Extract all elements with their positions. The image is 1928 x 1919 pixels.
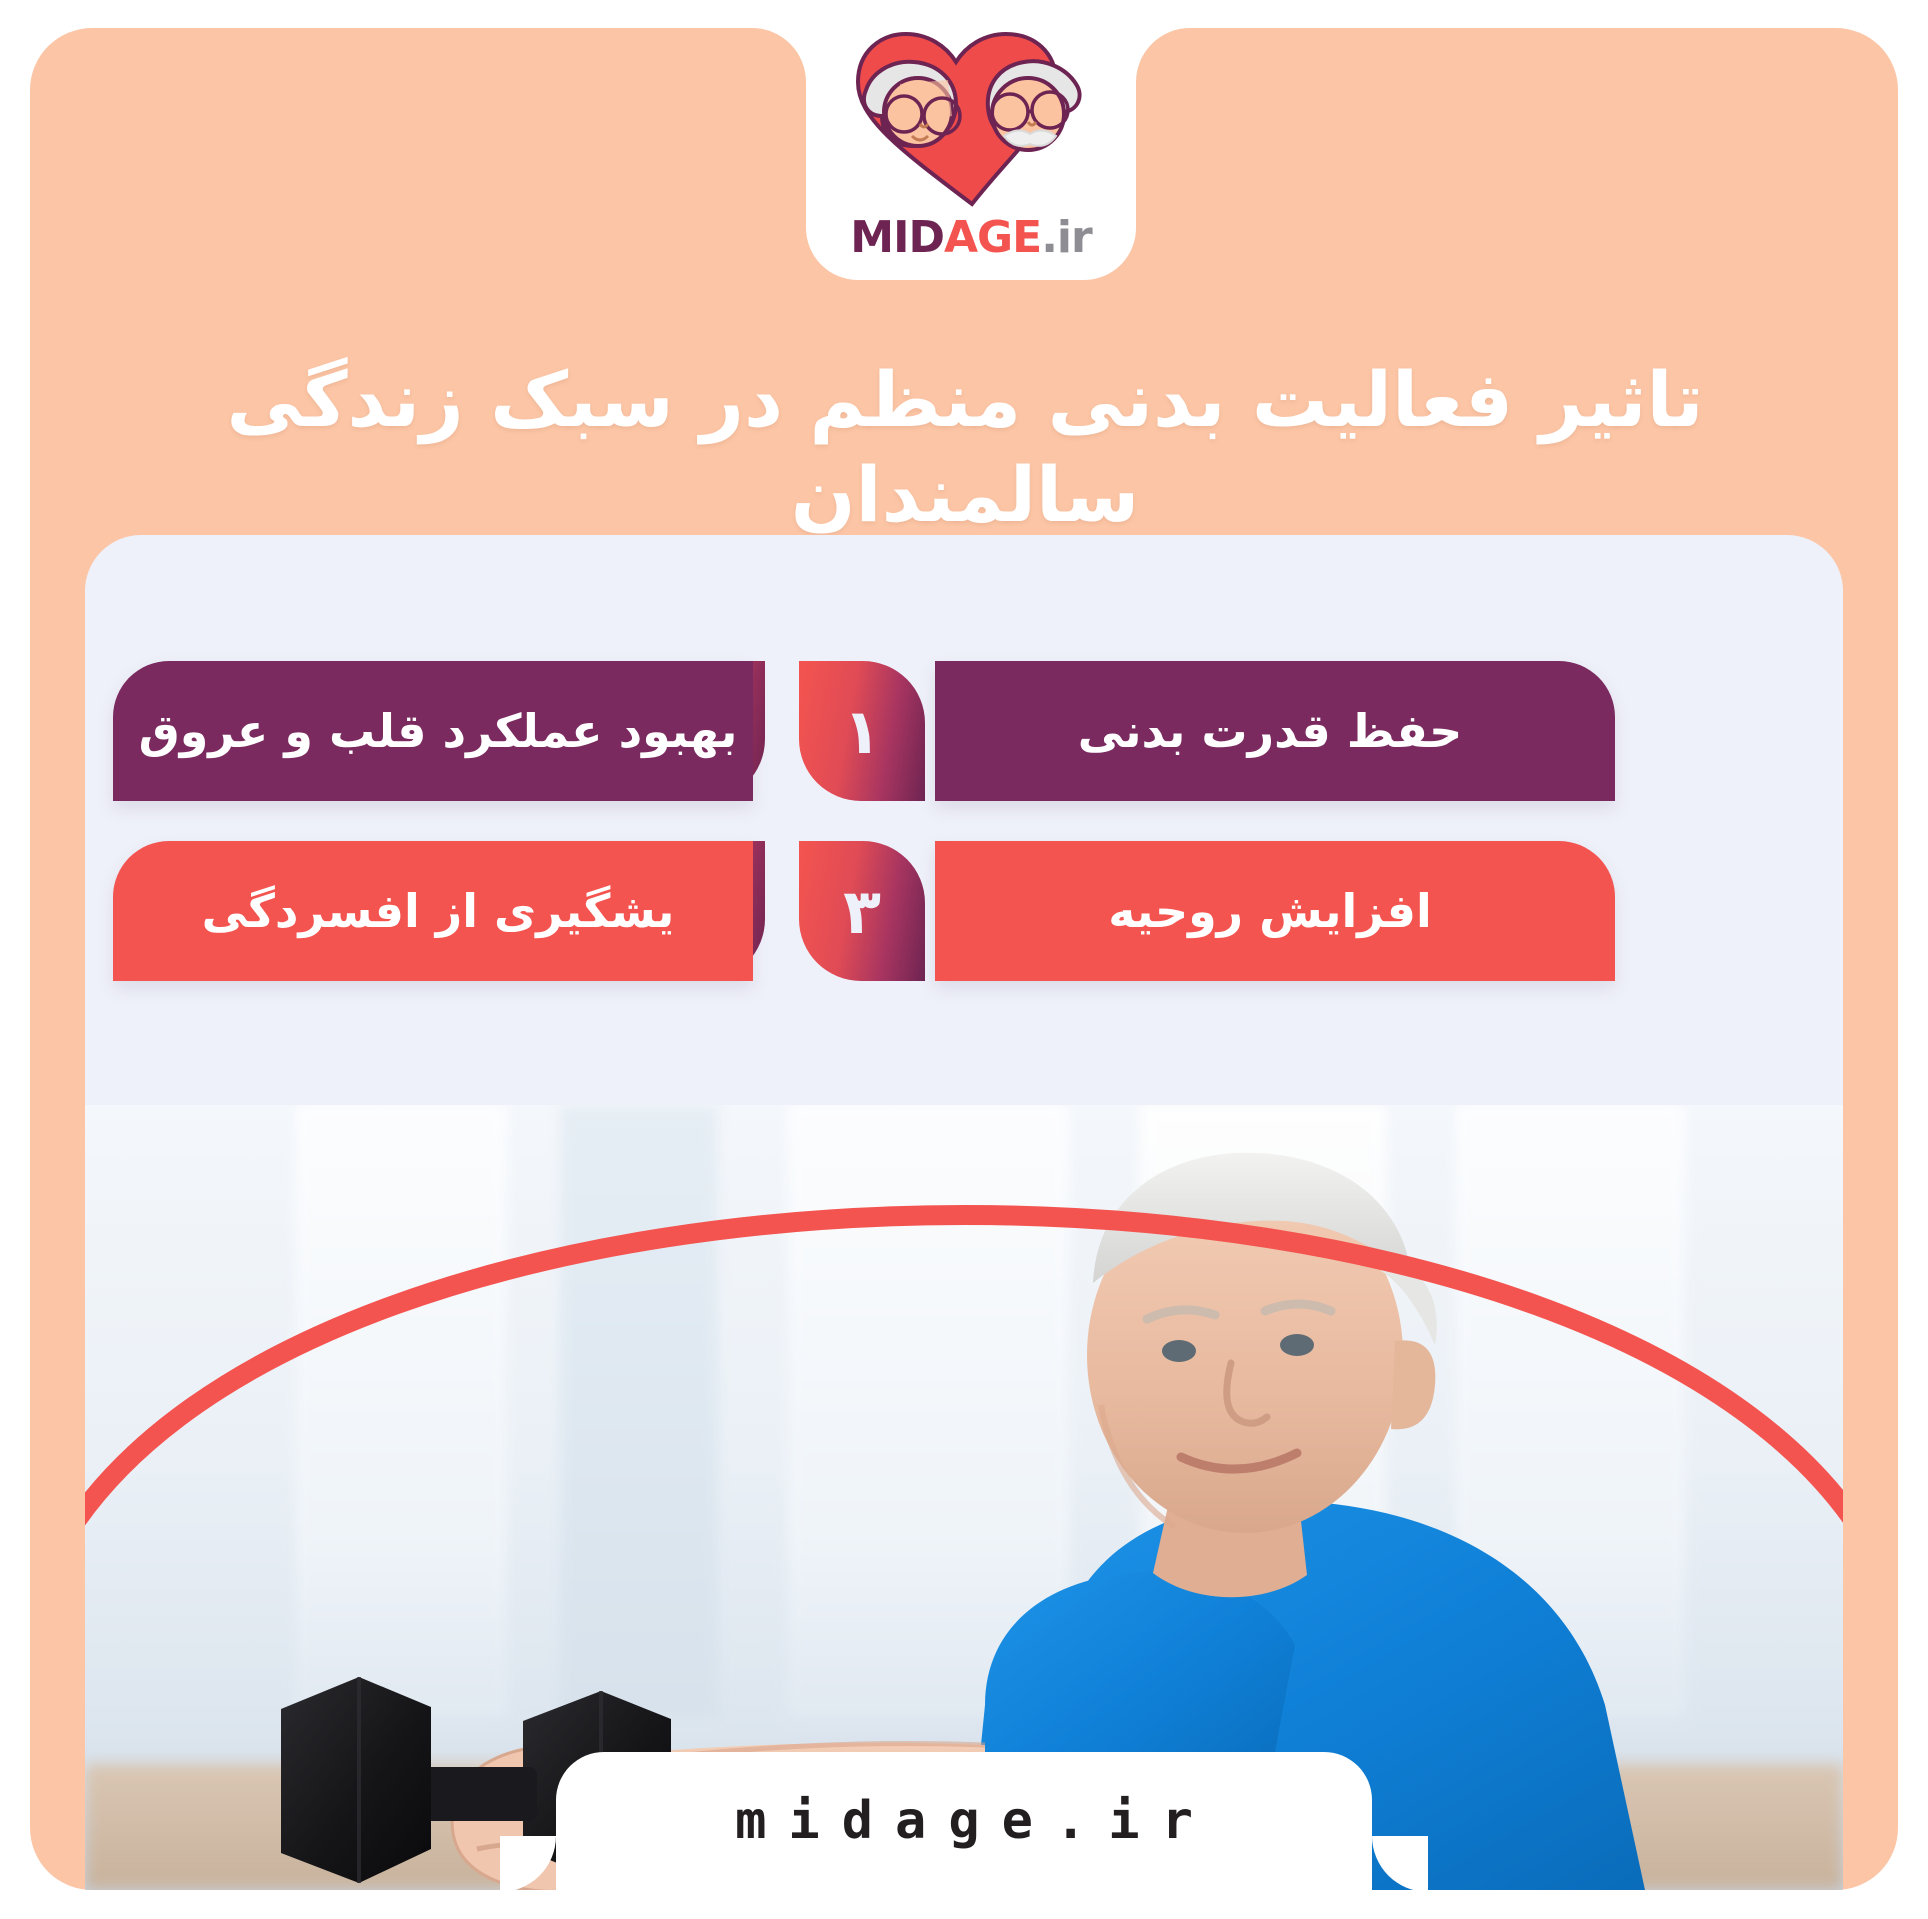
benefit-bar-3[interactable]: افزایش روحیه (935, 841, 1615, 981)
benefit-label-2: بهبود عملکرد قلب و عروق (139, 704, 738, 758)
benefit-label-4: یشگیری از افسردگی (202, 884, 675, 938)
benefit-label-1: حفظ قدرت بدنی (1078, 704, 1463, 758)
page-title: تاثیر فعالیت بدنی منظم در سبک زندگی سالم… (70, 352, 1860, 542)
benefit-bar-2[interactable]: بهبود عملکرد قلب و عروق (113, 661, 753, 801)
elderly-couple-heart-icon (838, 20, 1106, 210)
logo-wordmark-ir: .ir (1041, 212, 1092, 263)
benefit-badge-3: ۳ (799, 841, 925, 981)
footer-notch-corner-left (500, 1836, 556, 1892)
logo-wordmark-mid: MID (850, 212, 944, 263)
benefit-row-1: حفظ قدرت بدنی ۱ ۲ بهبود عملکرد قلب و عرو… (85, 661, 1843, 801)
logo-wordmark-age: AGE (944, 212, 1041, 263)
logo-wordmark: MIDAGE.ir (806, 212, 1136, 263)
logo-notch-corner-right (1136, 28, 1190, 82)
footer-notch-panel: midage.ir (556, 1752, 1372, 1890)
footer-notch-corner-right (1372, 1836, 1428, 1892)
infographic-poster: MIDAGE.ir تاثیر فعالیت بدنی منظم در سبک … (0, 0, 1928, 1919)
website-url[interactable]: midage.ir (713, 1791, 1215, 1851)
benefit-number-1: ۱ (843, 695, 881, 768)
content-card: حفظ قدرت بدنی ۱ ۲ بهبود عملکرد قلب و عرو… (85, 535, 1843, 1890)
benefit-bar-4[interactable]: یشگیری از افسردگی (113, 841, 753, 981)
benefit-number-3: ۳ (843, 875, 881, 948)
benefit-row-2: افزایش روحیه ۳ ۴ یشگیری از افسردگی (85, 841, 1843, 981)
benefit-label-3: افزایش روحیه (1108, 884, 1431, 938)
benefit-bar-1[interactable]: حفظ قدرت بدنی (935, 661, 1615, 801)
benefit-badge-1: ۱ (799, 661, 925, 801)
logo-notch-corner-left (752, 28, 806, 82)
